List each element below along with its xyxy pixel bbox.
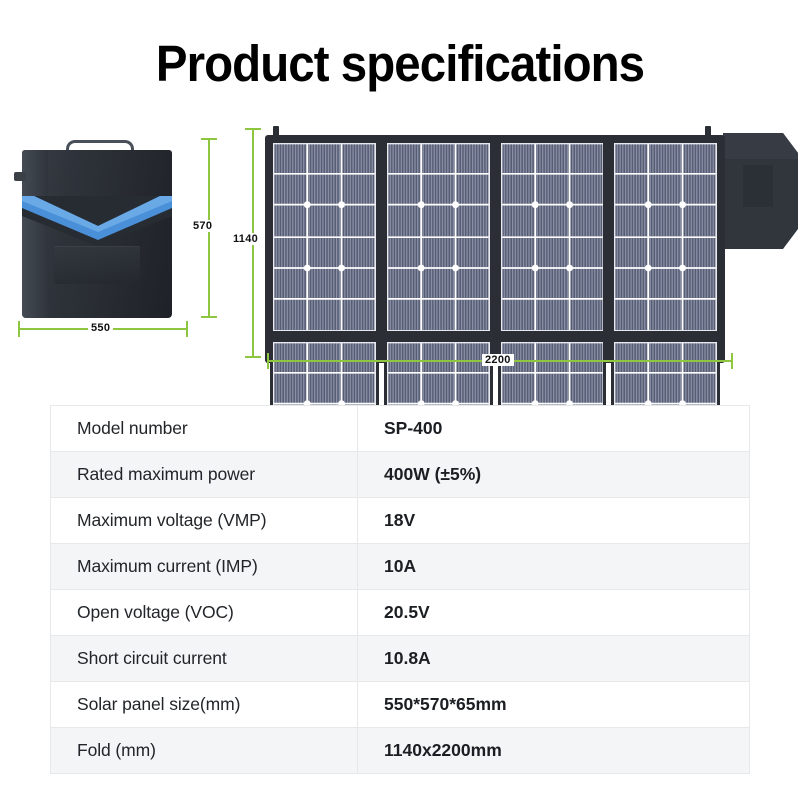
page-title: Product specifications: [28, 38, 772, 89]
unfolded-solar-panel-image: [265, 135, 735, 370]
dim-570-label: 570: [190, 220, 215, 232]
panel-side-flap-patch: [743, 165, 773, 207]
specification-table-body: Model number SP-400 Rated maximum power …: [51, 406, 750, 774]
spec-key: Maximum current (IMP): [51, 544, 358, 590]
spec-key: Open voltage (VOC): [51, 590, 358, 636]
spec-key: Maximum voltage (VMP): [51, 498, 358, 544]
dim-2200-cap-right: [731, 353, 733, 369]
dim-550-label: 550: [88, 322, 113, 334]
dim-2200-cap-left: [267, 353, 269, 369]
dim-2200-label: 2200: [482, 354, 514, 366]
spec-key: Fold (mm): [51, 728, 358, 774]
spec-key: Model number: [51, 406, 358, 452]
specification-table: Model number SP-400 Rated maximum power …: [50, 405, 750, 774]
table-row: Rated maximum power 400W (±5%): [51, 452, 750, 498]
panel-section: [270, 140, 379, 334]
spec-value: 400W (±5%): [358, 452, 750, 498]
panel-section: [498, 140, 607, 334]
table-row: Open voltage (VOC) 20.5V: [51, 590, 750, 636]
table-row: Model number SP-400: [51, 406, 750, 452]
bag-side-tab: [14, 172, 26, 181]
dim-570-cap-top: [201, 138, 217, 140]
spec-value: 10.8A: [358, 636, 750, 682]
spec-value: 1140x2200mm: [358, 728, 750, 774]
panel-side-flap: [723, 133, 798, 251]
dim-570-cap-bottom: [201, 316, 217, 318]
spec-key: Short circuit current: [51, 636, 358, 682]
spec-key: Rated maximum power: [51, 452, 358, 498]
spec-value: SP-400: [358, 406, 750, 452]
dim-550-cap-right: [186, 321, 188, 337]
folded-solar-bag-image: [14, 138, 174, 318]
bag-front-pocket: [54, 246, 140, 284]
spec-value: 20.5V: [358, 590, 750, 636]
table-row: Maximum current (IMP) 10A: [51, 544, 750, 590]
panel-section: [611, 140, 720, 334]
table-row: Short circuit current 10.8A: [51, 636, 750, 682]
dim-1140-cap-bottom: [245, 356, 261, 358]
panel-section-grid: [270, 140, 720, 358]
bag-blue-chevron-stripe: [22, 196, 172, 242]
table-row: Maximum voltage (VMP) 18V: [51, 498, 750, 544]
dim-550-cap-left: [18, 321, 20, 337]
spec-value: 550*570*65mm: [358, 682, 750, 728]
panel-section: [384, 140, 493, 334]
dim-1140-label: 1140: [230, 233, 261, 245]
product-figure: 570 550 1140: [0, 110, 800, 390]
spec-key: Solar panel size(mm): [51, 682, 358, 728]
table-row: Fold (mm) 1140x2200mm: [51, 728, 750, 774]
table-row: Solar panel size(mm) 550*570*65mm: [51, 682, 750, 728]
spec-value: 18V: [358, 498, 750, 544]
dim-1140-cap-top: [245, 128, 261, 130]
spec-value: 10A: [358, 544, 750, 590]
